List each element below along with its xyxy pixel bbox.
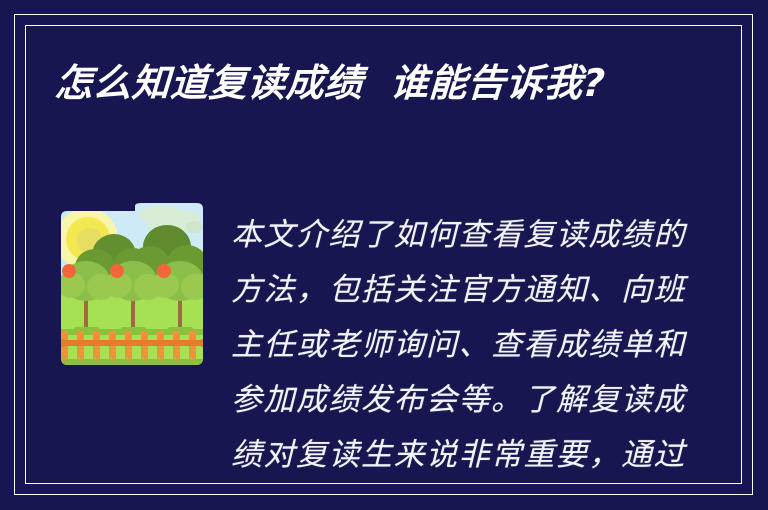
scene-panel — [57, 203, 209, 373]
body-copy-line: 主任或老师询问、查看成绩单和 — [231, 318, 661, 373]
body-copy-line: 方法，包括关注官方通知、向班 — [231, 263, 661, 318]
body-copy-line: 本文介绍了如何查看复读成绩的 — [231, 208, 661, 263]
body-copy: 本文介绍了如何查看复读成绩的 方法，包括关注官方通知、向班 主任或老师询问、查看… — [231, 208, 661, 483]
body-copy-line: 参加成绩发布会等。了解复读成 — [231, 373, 661, 428]
body-copy-line: 绩对复读生来说非常重要，通过 — [231, 428, 661, 483]
poster-canvas: 怎么知道复读成绩 谁能告诉我? — [0, 0, 768, 510]
fruit-icon — [62, 264, 76, 278]
page-title: 怎么知道复读成绩 谁能告诉我? — [54, 60, 716, 106]
orchard-illustration — [57, 203, 209, 373]
fruit-icon — [157, 264, 171, 278]
fruit-icon — [110, 264, 124, 278]
orchard-illustration-svg — [57, 203, 209, 373]
